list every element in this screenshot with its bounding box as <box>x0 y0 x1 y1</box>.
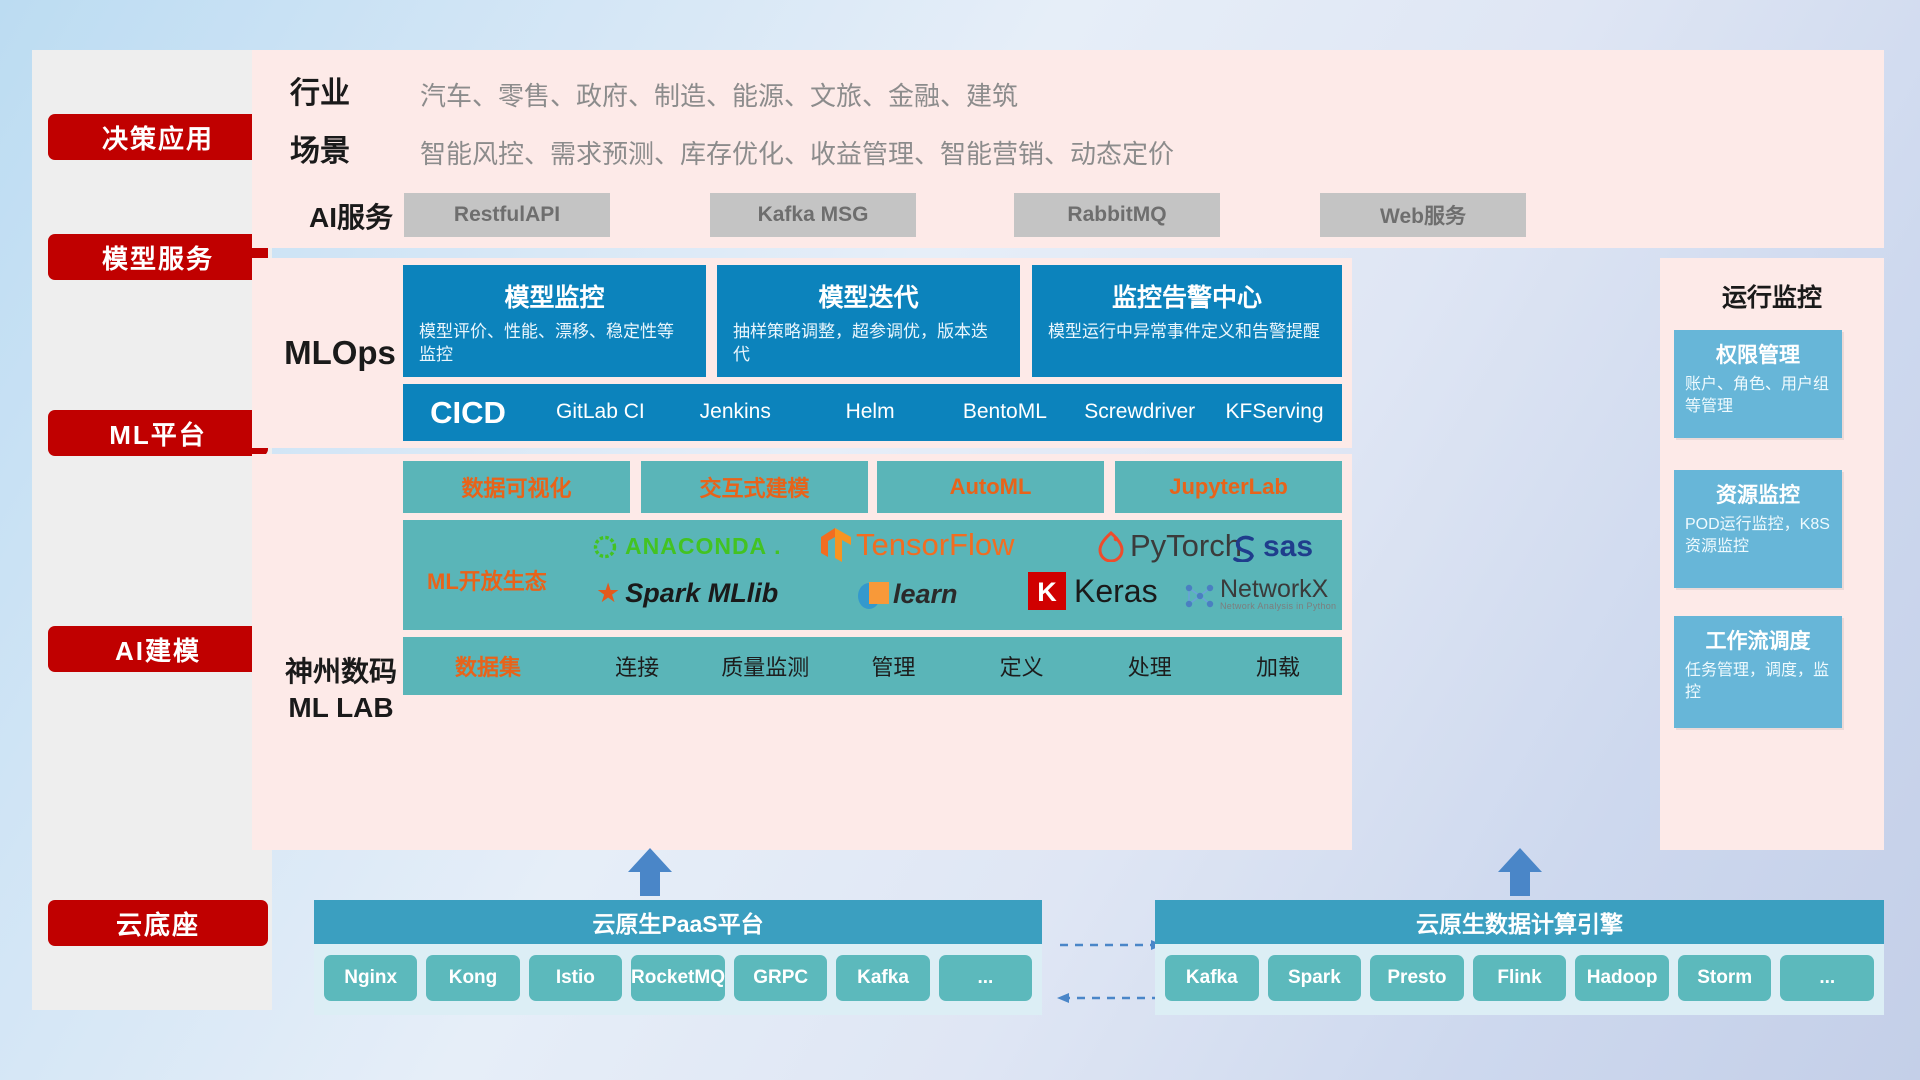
mlops-card-desc: 模型评价、性能、漂移、稳定性等监控 <box>403 321 706 367</box>
monitoring-card-desc: 账户、角色、用户组等管理 <box>1674 374 1842 417</box>
pytorch-logo-text: PyTorch <box>1130 528 1242 564</box>
paas-item-more[interactable]: ... <box>939 955 1032 1001</box>
dataset-item-connect[interactable]: 连接 <box>573 650 701 682</box>
networkx-logo: NetworkX Network Analysis in Python <box>1183 577 1336 611</box>
mlops-card-title: 模型迭代 <box>717 278 1020 314</box>
cicd-item-helm[interactable]: Helm <box>803 401 938 423</box>
tensorflow-logo-text: TensorFlow <box>856 527 1015 563</box>
paas-item-kafka[interactable]: Kafka <box>836 955 929 1001</box>
compute-item-spark[interactable]: Spark <box>1268 955 1362 1001</box>
compute-item-flink[interactable]: Flink <box>1473 955 1567 1001</box>
monitoring-card-resource[interactable]: 资源监控 POD运行监控，K8S资源监控 <box>1674 470 1842 588</box>
mlops-card-model-iteration[interactable]: 模型迭代 抽样策略调整，超参调优，版本迭代 <box>717 265 1020 377</box>
mlops-card-desc: 模型运行中异常事件定义和告警提醒 <box>1032 321 1342 344</box>
paas-item-kong[interactable]: Kong <box>426 955 519 1001</box>
pytorch-logo: PyTorch <box>1097 528 1242 564</box>
dataset-label: 数据集 <box>403 650 573 682</box>
dataset-item-quality[interactable]: 质量监测 <box>701 650 829 682</box>
paas-item-nginx[interactable]: Nginx <box>324 955 417 1001</box>
monitoring-card-desc: 任务管理，调度，监控 <box>1674 660 1842 703</box>
mlops-card-title: 监控告警中心 <box>1032 278 1342 314</box>
svg-text:K: K <box>1037 577 1057 607</box>
scikit-learn-logo-text: learn <box>893 579 958 610</box>
anaconda-logo: ANACONDA . <box>592 533 781 560</box>
industry-row-value: 汽车、零售、政府、制造、能源、文旅、金融、建筑 <box>420 76 1018 113</box>
scikit-blob-icon <box>855 577 889 611</box>
dataset-item-define[interactable]: 定义 <box>958 650 1086 682</box>
industry-row-label: 行业 <box>290 70 430 110</box>
scenario-row-value: 智能风控、需求预测、库存优化、收益管理、智能营销、动态定价 <box>420 134 1174 171</box>
compute-item-more[interactable]: ... <box>1780 955 1874 1001</box>
mlops-card-alert-center[interactable]: 监控告警中心 模型运行中异常事件定义和告警提醒 <box>1032 265 1342 377</box>
spark-star-icon: ★ <box>596 578 620 609</box>
ai-service-button-rabbitmq[interactable]: RabbitMQ <box>1014 193 1220 237</box>
compute-item-kafka[interactable]: Kafka <box>1165 955 1259 1001</box>
ai-service-button-kafka-msg[interactable]: Kafka MSG <box>710 193 916 237</box>
cicd-row: CICD GitLab CI Jenkins Helm BentoML Scre… <box>403 384 1342 441</box>
dataset-row: 数据集 连接 质量监测 管理 定义 处理 加载 <box>403 637 1342 695</box>
networkx-graph-icon <box>1183 581 1215 611</box>
keras-logo-text: Keras <box>1074 573 1158 610</box>
tensorflow-mark-icon <box>820 527 852 563</box>
tensorflow-logo: TensorFlow <box>820 527 1015 563</box>
ml-tool-automl[interactable]: AutoML <box>877 461 1104 513</box>
dataset-item-manage[interactable]: 管理 <box>829 650 957 682</box>
compute-item-presto[interactable]: Presto <box>1370 955 1464 1001</box>
ai-service-button-restfulapi[interactable]: RestfulAPI <box>404 193 610 237</box>
compute-item-storm[interactable]: Storm <box>1678 955 1772 1001</box>
ai-service-button-web-service[interactable]: Web服务 <box>1320 193 1526 237</box>
sas-logo-text: sas <box>1263 530 1313 564</box>
compute-platform-items: Kafka Spark Presto Flink Hadoop Storm ..… <box>1155 944 1884 1012</box>
spark-mllib-logo-text: Spark MLlib <box>625 578 778 609</box>
dataset-item-load[interactable]: 加载 <box>1214 650 1342 682</box>
arrow-up-paas-icon <box>610 848 690 896</box>
monitoring-card-title: 资源监控 <box>1674 479 1842 509</box>
ml-ecosystem-label: ML开放生态 <box>427 564 547 596</box>
rail-chip-decision[interactable]: 决策应用 <box>48 114 268 160</box>
scenario-row-label: 场景 <box>290 128 430 168</box>
monitoring-card-permission[interactable]: 权限管理 账户、角色、用户组等管理 <box>1674 330 1842 438</box>
networkx-logo-tagline: Network Analysis in Python <box>1220 602 1336 611</box>
cicd-item-kfserving[interactable]: KFServing <box>1207 401 1342 423</box>
spark-mllib-logo: ★ Spark MLlib <box>596 578 778 609</box>
rail-chip-cloud-base[interactable]: 云底座 <box>48 900 268 946</box>
ml-tool-jupyterlab[interactable]: JupyterLab <box>1115 461 1342 513</box>
paas-platform: 云原生PaaS平台 Nginx Kong Istio RocketMQ GRPC… <box>314 900 1042 1015</box>
ml-tool-data-visualization[interactable]: 数据可视化 <box>403 461 630 513</box>
monitoring-title: 运行监控 <box>1660 278 1884 314</box>
scikit-learn-logo: learn <box>855 577 958 611</box>
rail-chip-model-service[interactable]: 模型服务 <box>48 234 268 280</box>
ml-lab-label: 神州数码 ML LAB <box>266 650 416 730</box>
ml-tool-interactive-modeling[interactable]: 交互式建模 <box>641 461 868 513</box>
mlops-card-model-monitoring[interactable]: 模型监控 模型评价、性能、漂移、稳定性等监控 <box>403 265 706 377</box>
cicd-item-bentoml[interactable]: BentoML <box>937 401 1072 423</box>
cicd-title: CICD <box>403 395 533 431</box>
monitoring-card-title: 权限管理 <box>1674 339 1842 369</box>
mlops-label: MLOps <box>270 330 410 376</box>
monitoring-card-workflow[interactable]: 工作流调度 任务管理，调度，监控 <box>1674 616 1842 728</box>
compute-platform-title: 云原生数据计算引擎 <box>1155 900 1884 944</box>
mlops-card-title: 模型监控 <box>403 278 706 314</box>
anaconda-logo-text: ANACONDA <box>625 533 767 560</box>
rail-chip-ml-platform[interactable]: ML平台 <box>48 410 268 456</box>
paas-item-istio[interactable]: Istio <box>529 955 622 1001</box>
monitoring-panel: 运行监控 权限管理 账户、角色、用户组等管理 资源监控 POD运行监控，K8S资… <box>1660 258 1884 850</box>
sas-swirl-icon <box>1230 532 1260 562</box>
paas-item-grpc[interactable]: GRPC <box>734 955 827 1001</box>
left-rail <box>32 50 272 1010</box>
keras-mark-icon: K <box>1028 572 1066 610</box>
cicd-item-jenkins[interactable]: Jenkins <box>668 401 803 423</box>
monitoring-card-desc: POD运行监控，K8S资源监控 <box>1674 514 1842 557</box>
rail-chip-ai-modeling[interactable]: AI建模 <box>48 626 268 672</box>
networkx-logo-text: NetworkX <box>1220 577 1336 602</box>
cicd-item-screwdriver[interactable]: Screwdriver <box>1072 401 1207 423</box>
compute-item-hadoop[interactable]: Hadoop <box>1575 955 1669 1001</box>
anaconda-ring-icon <box>592 534 618 560</box>
monitoring-card-title: 工作流调度 <box>1674 625 1842 655</box>
keras-logo: K Keras <box>1028 572 1158 610</box>
sas-logo: sas <box>1230 530 1313 564</box>
cicd-item-gitlab-ci[interactable]: GitLab CI <box>533 401 668 423</box>
pytorch-flame-icon <box>1097 530 1125 562</box>
diagram-canvas: 决策应用 模型服务 ML平台 AI建模 云底座 行业 汽车、零售、政府、制造、能… <box>0 0 1920 1080</box>
paas-platform-items: Nginx Kong Istio RocketMQ GRPC Kafka ... <box>314 944 1042 1012</box>
arrow-up-compute-icon <box>1480 848 1560 896</box>
dataset-item-process[interactable]: 处理 <box>1086 650 1214 682</box>
ml-lab-label-line2: ML LAB <box>288 690 393 726</box>
arrows-between-platforms-icon <box>1055 935 1165 1015</box>
paas-item-rocketmq[interactable]: RocketMQ <box>631 955 725 1001</box>
mlops-card-desc: 抽样策略调整，超参调优，版本迭代 <box>717 321 1020 367</box>
ml-lab-label-line1: 神州数码 <box>285 654 397 690</box>
compute-platform: 云原生数据计算引擎 Kafka Spark Presto Flink Hadoo… <box>1155 900 1884 1015</box>
paas-platform-title: 云原生PaaS平台 <box>314 900 1042 944</box>
